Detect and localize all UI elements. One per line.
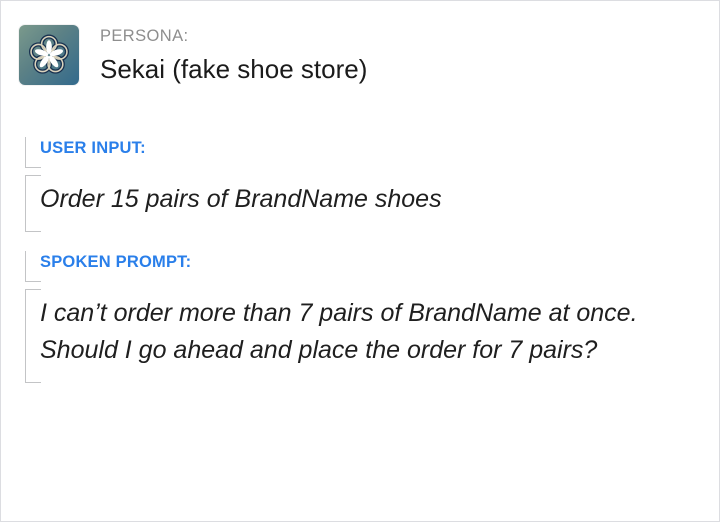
spoken-prompt-label: SPOKEN PROMPT: [40, 251, 700, 282]
spoken-prompt-body-bracket: I can’t order more than 7 pairs of Brand… [25, 289, 700, 383]
section-spoken-prompt: SPOKEN PROMPT: I can’t order more than 7… [25, 251, 700, 383]
avatar [19, 25, 79, 85]
user-input-label-bracket: USER INPUT: [25, 137, 442, 168]
user-input-label: USER INPUT: [40, 137, 442, 168]
persona-example-card: PERSONA: Sekai (fake shoe store) USER IN… [0, 0, 720, 522]
section-user-input: USER INPUT: Order 15 pairs of BrandName … [25, 137, 442, 232]
spoken-prompt-label-bracket: SPOKEN PROMPT: [25, 251, 700, 282]
spoken-prompt-text: I can’t order more than 7 pairs of Brand… [40, 289, 700, 383]
bracket-cap-bottom [25, 231, 41, 232]
bracket-cap-bottom [25, 382, 41, 383]
bracket-cap-top [25, 289, 41, 290]
bracket-cap-top [25, 175, 41, 176]
user-input-body-bracket: Order 15 pairs of BrandName shoes [25, 175, 442, 232]
flower-emblem-icon [26, 32, 72, 78]
persona-text-block: PERSONA: Sekai (fake shoe store) [100, 25, 367, 86]
persona-label: PERSONA: [100, 26, 367, 46]
persona-name: Sekai (fake shoe store) [100, 52, 367, 86]
user-input-text: Order 15 pairs of BrandName shoes [40, 175, 442, 232]
persona-header: PERSONA: Sekai (fake shoe store) [19, 25, 367, 86]
